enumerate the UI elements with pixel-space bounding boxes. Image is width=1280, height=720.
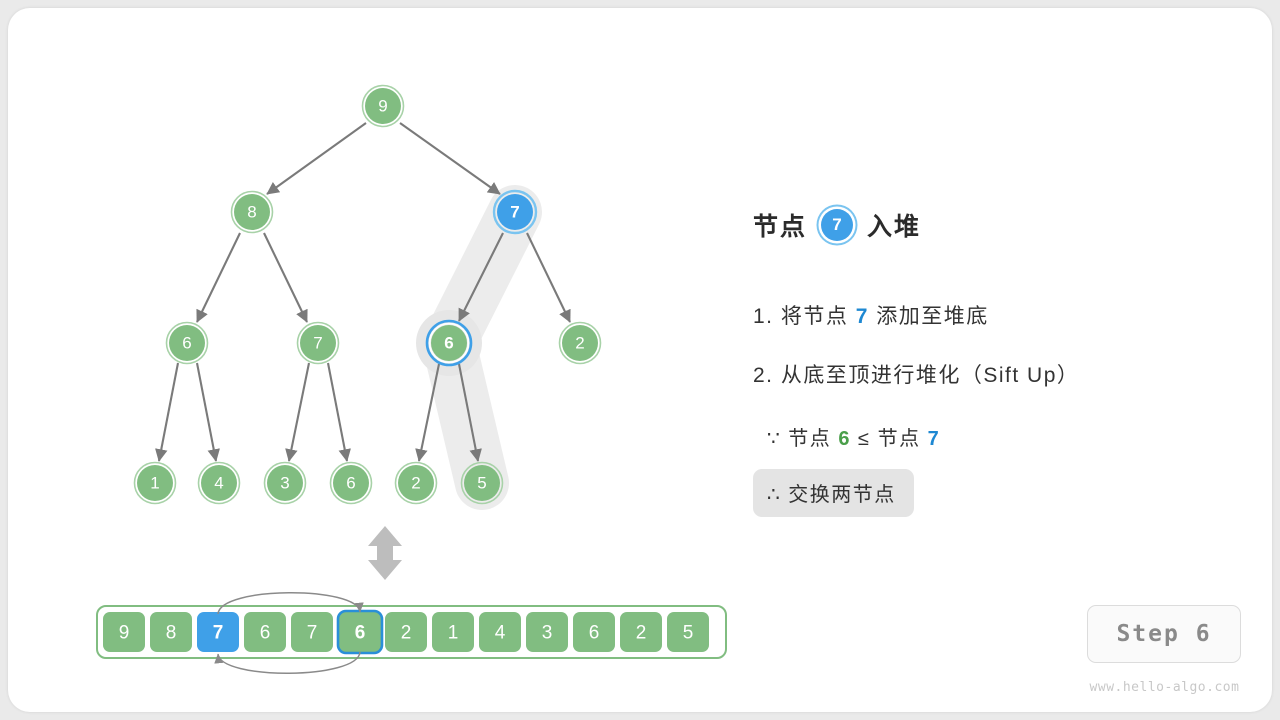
tree-edge bbox=[527, 233, 570, 322]
array-cell[interactable]: 1 bbox=[432, 612, 474, 652]
reason-right-label: 节点 bbox=[878, 428, 921, 450]
tree-node-label: 6 bbox=[444, 334, 453, 353]
tree-node-label: 1 bbox=[150, 474, 159, 493]
tree-node[interactable]: 6 bbox=[167, 323, 208, 364]
array-cell-value: 2 bbox=[636, 623, 647, 644]
panel-title-prefix: 节点 bbox=[753, 207, 807, 243]
conclusion-symbol: ∴ bbox=[767, 484, 781, 506]
tree-node-label: 2 bbox=[575, 334, 584, 353]
swap-arrow-forward bbox=[218, 593, 360, 614]
reason-left-value: 6 bbox=[838, 428, 851, 450]
tree-edge bbox=[159, 363, 178, 461]
array-cell-value: 4 bbox=[495, 623, 506, 644]
tree-node-label: 7 bbox=[313, 334, 322, 353]
watermark: www.hello-algo.com bbox=[1077, 680, 1252, 695]
step-1-text-before: 将节点 bbox=[774, 305, 856, 328]
step-item-2: 2. 从底至顶进行堆化（Sift Up） bbox=[753, 363, 1253, 388]
array-cell[interactable]: 5 bbox=[667, 612, 709, 652]
array-cell[interactable]: 6 bbox=[573, 612, 615, 652]
tree-edge bbox=[419, 364, 439, 461]
array-cell-value: 5 bbox=[683, 623, 694, 644]
reason-symbol: ∵ bbox=[767, 428, 781, 450]
array-cell-value: 7 bbox=[307, 623, 318, 644]
step-1-highlight: 7 bbox=[856, 305, 869, 328]
array-cell[interactable]: 6 bbox=[244, 612, 286, 652]
panel-title: 节点 7 入堆 bbox=[753, 204, 1253, 246]
tree-node-label: 6 bbox=[346, 474, 355, 493]
tree-edges bbox=[159, 123, 570, 461]
reason-operator: ≤ bbox=[858, 428, 870, 450]
diagram-card: 9 8 7 6 7 6 bbox=[8, 8, 1272, 712]
tree-node-inserted[interactable]: 7 bbox=[494, 191, 536, 233]
array-cell-value: 2 bbox=[401, 623, 412, 644]
reason-line: ∵ 节点 6 ≤ 节点 7 bbox=[753, 422, 1253, 451]
step-badge: Step 6 bbox=[1087, 605, 1241, 663]
step-item-1: 1. 将节点 7 添加至堆底 bbox=[753, 304, 1253, 329]
array-cell-value: 6 bbox=[260, 623, 271, 644]
tree-edge bbox=[267, 123, 366, 194]
tree-edge bbox=[400, 123, 500, 194]
reason-right-value: 7 bbox=[928, 428, 941, 450]
tree-node-label: 7 bbox=[510, 203, 519, 222]
step-2-index: 2. bbox=[753, 364, 774, 387]
step-2-text-before: 从底至顶进行堆化（Sift Up） bbox=[774, 364, 1080, 387]
tree-node-label: 9 bbox=[378, 97, 387, 116]
tree-node-label: 2 bbox=[411, 474, 420, 493]
conclusion-text: 交换两节点 bbox=[788, 484, 896, 506]
heap-diagram: 9 8 7 6 7 6 bbox=[8, 8, 768, 712]
tree-node[interactable]: 1 bbox=[135, 463, 176, 504]
panel-title-suffix: 入堆 bbox=[867, 207, 921, 243]
tree-node-label: 8 bbox=[247, 203, 256, 222]
tree-edge bbox=[264, 233, 307, 322]
array-cell-inserted[interactable]: 7 bbox=[197, 612, 239, 652]
array-cell[interactable]: 2 bbox=[620, 612, 662, 652]
array-cell-compared[interactable]: 6 bbox=[338, 611, 382, 653]
array-cell-value: 1 bbox=[448, 623, 459, 644]
tree-node[interactable]: 6 bbox=[331, 463, 372, 504]
step-1-index: 1. bbox=[753, 305, 774, 328]
array-cell[interactable]: 9 bbox=[103, 612, 145, 652]
tree-node-label: 4 bbox=[214, 474, 223, 493]
tree-array-link-icon bbox=[368, 526, 402, 580]
tree-node[interactable]: 2 bbox=[396, 463, 437, 504]
tree-node-label: 5 bbox=[477, 474, 486, 493]
tree-node-compared[interactable]: 6 bbox=[427, 321, 471, 365]
step-1-text-after: 添加至堆底 bbox=[869, 305, 989, 328]
array-cell-value: 7 bbox=[213, 623, 224, 644]
array-cell-value: 3 bbox=[542, 623, 553, 644]
array-cell-value: 6 bbox=[589, 623, 600, 644]
tree-edge bbox=[197, 233, 240, 322]
tree-node[interactable]: 5 bbox=[462, 463, 503, 504]
explanation-panel: 节点 7 入堆 1. 将节点 7 添加至堆底 2. 从底至顶进行堆化（Sift … bbox=[753, 204, 1253, 517]
array-cell[interactable]: 8 bbox=[150, 612, 192, 652]
array-cell[interactable]: 2 bbox=[385, 612, 427, 652]
tree-node[interactable]: 4 bbox=[199, 463, 240, 504]
reason-left-label: 节点 bbox=[788, 428, 831, 450]
tree-node[interactable]: 9 bbox=[363, 86, 404, 127]
array-cell[interactable]: 4 bbox=[479, 612, 521, 652]
array-cell-value: 9 bbox=[119, 623, 130, 644]
tree-edge bbox=[197, 363, 216, 461]
array-cells: 9 8 7 6 7 6 2 bbox=[103, 611, 709, 653]
array-cell[interactable]: 7 bbox=[291, 612, 333, 652]
array-cell[interactable]: 3 bbox=[526, 612, 568, 652]
conclusion-badge: ∴ 交换两节点 bbox=[753, 469, 914, 517]
tree-edge bbox=[328, 363, 347, 461]
tree-node[interactable]: 8 bbox=[232, 192, 273, 233]
tree-node-label: 6 bbox=[182, 334, 191, 353]
panel-title-badge: 7 bbox=[821, 209, 853, 241]
tree-node[interactable]: 3 bbox=[265, 463, 306, 504]
tree-node[interactable]: 7 bbox=[298, 323, 339, 364]
tree-node-label: 3 bbox=[280, 474, 289, 493]
tree-node[interactable]: 2 bbox=[560, 323, 601, 364]
swap-arrow-backward bbox=[218, 652, 360, 673]
tree-edge bbox=[289, 363, 309, 461]
array-cell-value: 6 bbox=[355, 623, 366, 644]
array-cell-value: 8 bbox=[166, 623, 177, 644]
